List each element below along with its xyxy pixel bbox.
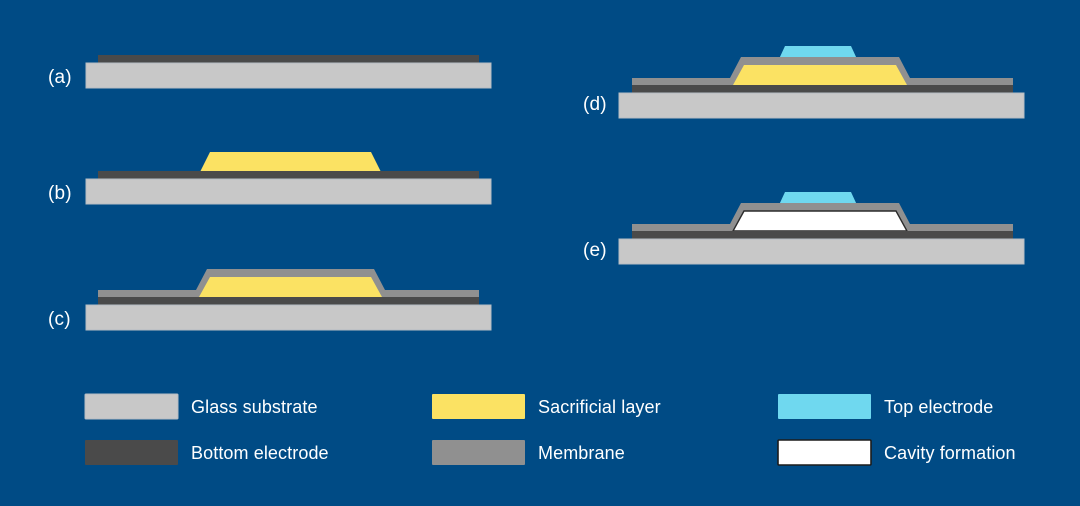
panel-a-glass-substrate [86,63,491,88]
panel-c-glass-substrate [86,305,491,330]
panel-b-glass-substrate [86,179,491,204]
legend-label-sacrificial-layer: Sacrificial layer [538,397,661,417]
legend-swatch-sacrificial-layer [432,394,525,419]
legend-item-sacrificial-layer: Sacrificial layer [432,394,661,419]
panel-b-label: (b) [48,183,72,204]
panel-e-cavity [733,211,907,231]
legend-swatch-glass-substrate [85,394,178,419]
panel-b-sacrificial-layer [199,152,382,174]
panel-e-label: (e) [583,240,607,261]
legend-swatch-top-electrode [778,394,871,419]
legend-swatch-cavity-formation [778,440,871,465]
legend-label-top-electrode: Top electrode [884,397,993,417]
legend-item-bottom-electrode: Bottom electrode [85,440,329,465]
legend-label-glass-substrate: Glass substrate [191,397,318,417]
panel-e-glass-substrate [619,239,1024,264]
legend-swatch-membrane [432,440,525,465]
panel-a: (a) [48,55,491,88]
process-flow-svg: (a) (b) (c) (d) (e) [0,0,1080,506]
panel-a-label: (a) [48,67,72,88]
panel-d-glass-substrate [619,93,1024,118]
legend-item-top-electrode: Top electrode [778,394,993,419]
panel-d-sacrificial-layer [733,65,907,85]
panel-c-sacrificial-layer [199,277,382,297]
legend-label-cavity-formation: Cavity formation [884,443,1016,463]
legend-label-bottom-electrode: Bottom electrode [191,443,329,463]
process-flow-figure: (a) (b) (c) (d) (e) [0,0,1080,506]
legend-item-cavity-formation: Cavity formation [778,440,1016,465]
panel-c-label: (c) [48,309,71,330]
legend-swatch-bottom-electrode [85,440,178,465]
panel-d-label: (d) [583,94,607,115]
legend-label-membrane: Membrane [538,443,625,463]
legend-item-glass-substrate: Glass substrate [85,394,318,419]
